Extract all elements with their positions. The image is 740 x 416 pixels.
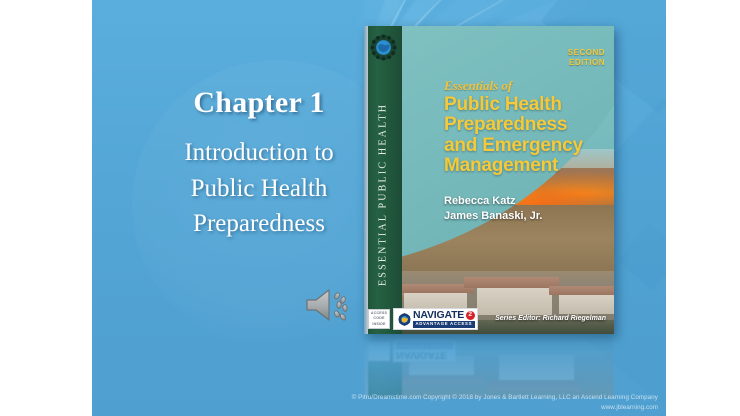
book-authors: Rebecca Katz James Banaski, Jr. bbox=[444, 194, 542, 224]
speaker-icon[interactable] bbox=[299, 283, 355, 327]
edition-line-1: SECOND bbox=[568, 48, 605, 58]
navigate-tagline: ADVANTAGE ACCESS bbox=[413, 321, 475, 327]
navigate-wordmark: NAVIGATE 2 bbox=[413, 310, 475, 321]
book-cover-image: ESSENTIAL PUBLIC HEALTH SECOND EDITION E… bbox=[364, 26, 614, 334]
book-edition-label: SECOND EDITION bbox=[568, 48, 605, 68]
subtitle-line-2: Public Health bbox=[114, 171, 404, 207]
copyright-line: © Pitru/Dreamstime.com Copyright © 2018 … bbox=[352, 393, 658, 402]
book-page-edge bbox=[364, 26, 368, 334]
book-title-line-2: Preparedness bbox=[444, 115, 606, 135]
book-title-line-1: Public Health bbox=[444, 95, 606, 115]
book-spine: ESSENTIAL PUBLIC HEALTH bbox=[364, 26, 402, 334]
navigate-badge: NAVIGATE 2 ADVANTAGE ACCESS bbox=[393, 308, 478, 330]
author-2: James Banaski, Jr. bbox=[444, 209, 542, 224]
slide-viewer: Chapter 1 Introduction to Public Health … bbox=[0, 0, 740, 416]
book-spine-text: ESSENTIAL PUBLIC HEALTH bbox=[364, 94, 402, 294]
chapter-subtitle: Introduction to Public Health Preparedne… bbox=[114, 135, 404, 242]
website-line: www.jblearning.com bbox=[352, 403, 658, 412]
essential-public-health-globe-icon bbox=[370, 34, 397, 61]
book-kicker: Essentials of bbox=[444, 78, 606, 94]
book-title-line-4: Management bbox=[444, 156, 606, 176]
book-series-editor: Series Editor: Richard Riegelman bbox=[495, 315, 606, 322]
edition-line-2: EDITION bbox=[568, 58, 605, 68]
subtitle-line-3: Preparedness bbox=[114, 206, 404, 242]
author-1: Rebecca Katz bbox=[444, 194, 542, 209]
book-title-block: Essentials of Public Health Preparedness… bbox=[444, 78, 606, 176]
presentation-slide: Chapter 1 Introduction to Public Health … bbox=[92, 0, 666, 416]
navigate-lockup: NAVIGATE 2 ADVANTAGE ACCESS bbox=[413, 310, 475, 327]
footer-credits: © Pitru/Dreamstime.com Copyright © 2018 … bbox=[352, 393, 658, 412]
title-block: Chapter 1 Introduction to Public Health … bbox=[114, 86, 404, 242]
access-box-line-3: INSIDE bbox=[372, 322, 385, 327]
navigate-version-badge: 2 bbox=[466, 311, 475, 320]
page-title: Chapter 1 bbox=[114, 86, 404, 119]
navigate-globe-icon bbox=[398, 313, 411, 326]
book-title-line-3: and Emergency bbox=[444, 136, 606, 156]
access-code-box: ACCESS CODE INSIDE bbox=[368, 309, 390, 329]
navigate-badge-bar: ACCESS CODE INSIDE bbox=[368, 308, 478, 330]
navigate-brand: NAVIGATE bbox=[413, 310, 464, 321]
book-title: Public Health Preparedness and Emergency… bbox=[444, 95, 606, 176]
subtitle-line-1: Introduction to bbox=[114, 135, 404, 171]
book-cover-reflection: NAVIGATEADVANTAGE ACCESS bbox=[364, 336, 614, 398]
